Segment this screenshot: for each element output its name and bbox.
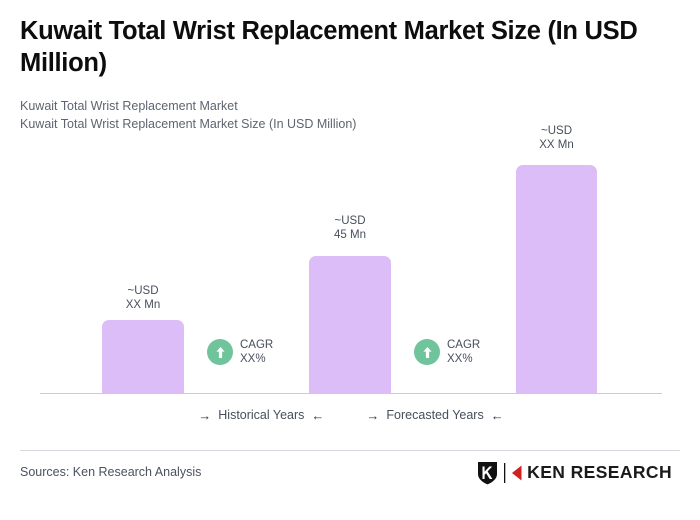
bar-label-1-line-2: XX Mn: [102, 298, 184, 312]
bar-label-1: ~USD XX Mn: [102, 284, 184, 312]
cagr-annotation-2: CAGR XX%: [414, 338, 480, 366]
bar-label-3-line-2: XX Mn: [516, 138, 597, 152]
cagr-annotation-1-text: CAGR XX%: [240, 338, 273, 366]
bar-label-2: ~USD 45 Mn: [309, 214, 391, 242]
cagr-up-arrow-icon: [414, 339, 440, 365]
cagr-up-arrow-icon: [207, 339, 233, 365]
cagr-annotation-2-text: CAGR XX%: [447, 338, 480, 366]
footer-divider: [20, 450, 680, 451]
axis-captions: → Historical Years ← → Forecasted Years …: [40, 408, 662, 422]
bar-base[interactable]: [309, 256, 391, 394]
bar-historical[interactable]: [102, 320, 184, 394]
logo-wordmark: KEN RESEARCH: [527, 464, 672, 482]
cagr-annotation-1: CAGR XX%: [207, 338, 273, 366]
sources-text: Sources: Ken Research Analysis: [20, 465, 201, 479]
cagr-annotation-2-line-2: XX%: [447, 352, 480, 366]
chart-plot-area: ~USD XX Mn CAGR XX% ~USD 45 Mn: [0, 0, 700, 400]
ken-research-shield-icon: [477, 461, 498, 485]
axis-caption-forecasted: → Forecasted Years ←: [366, 408, 503, 422]
arrow-right-icon: →: [366, 409, 379, 422]
arrow-right-icon: →: [198, 409, 211, 422]
axis-caption-historical: → Historical Years ←: [198, 408, 324, 422]
arrow-left-icon: ←: [311, 409, 324, 422]
arrow-left-icon: ←: [491, 409, 504, 422]
bar-label-3: ~USD XX Mn: [516, 124, 597, 152]
logo-red-accent-icon: [511, 464, 522, 482]
bar-label-2-line-1: ~USD: [309, 214, 391, 228]
chart-axis-line: [40, 393, 662, 394]
cagr-annotation-1-line-1: CAGR: [240, 338, 273, 352]
bar-label-1-line-1: ~USD: [102, 284, 184, 298]
bar-label-3-line-1: ~USD: [516, 124, 597, 138]
cagr-annotation-1-line-2: XX%: [240, 352, 273, 366]
logo-divider-icon: [503, 463, 506, 483]
chart-page: Kuwait Total Wrist Replacement Market Si…: [0, 0, 700, 520]
bar-label-2-line-2: 45 Mn: [309, 228, 391, 242]
axis-caption-historical-label: Historical Years: [218, 408, 304, 422]
bar-forecast[interactable]: [516, 165, 597, 394]
cagr-annotation-2-line-1: CAGR: [447, 338, 480, 352]
ken-research-logo: KEN RESEARCH: [477, 461, 672, 485]
axis-caption-forecasted-label: Forecasted Years: [386, 408, 483, 422]
